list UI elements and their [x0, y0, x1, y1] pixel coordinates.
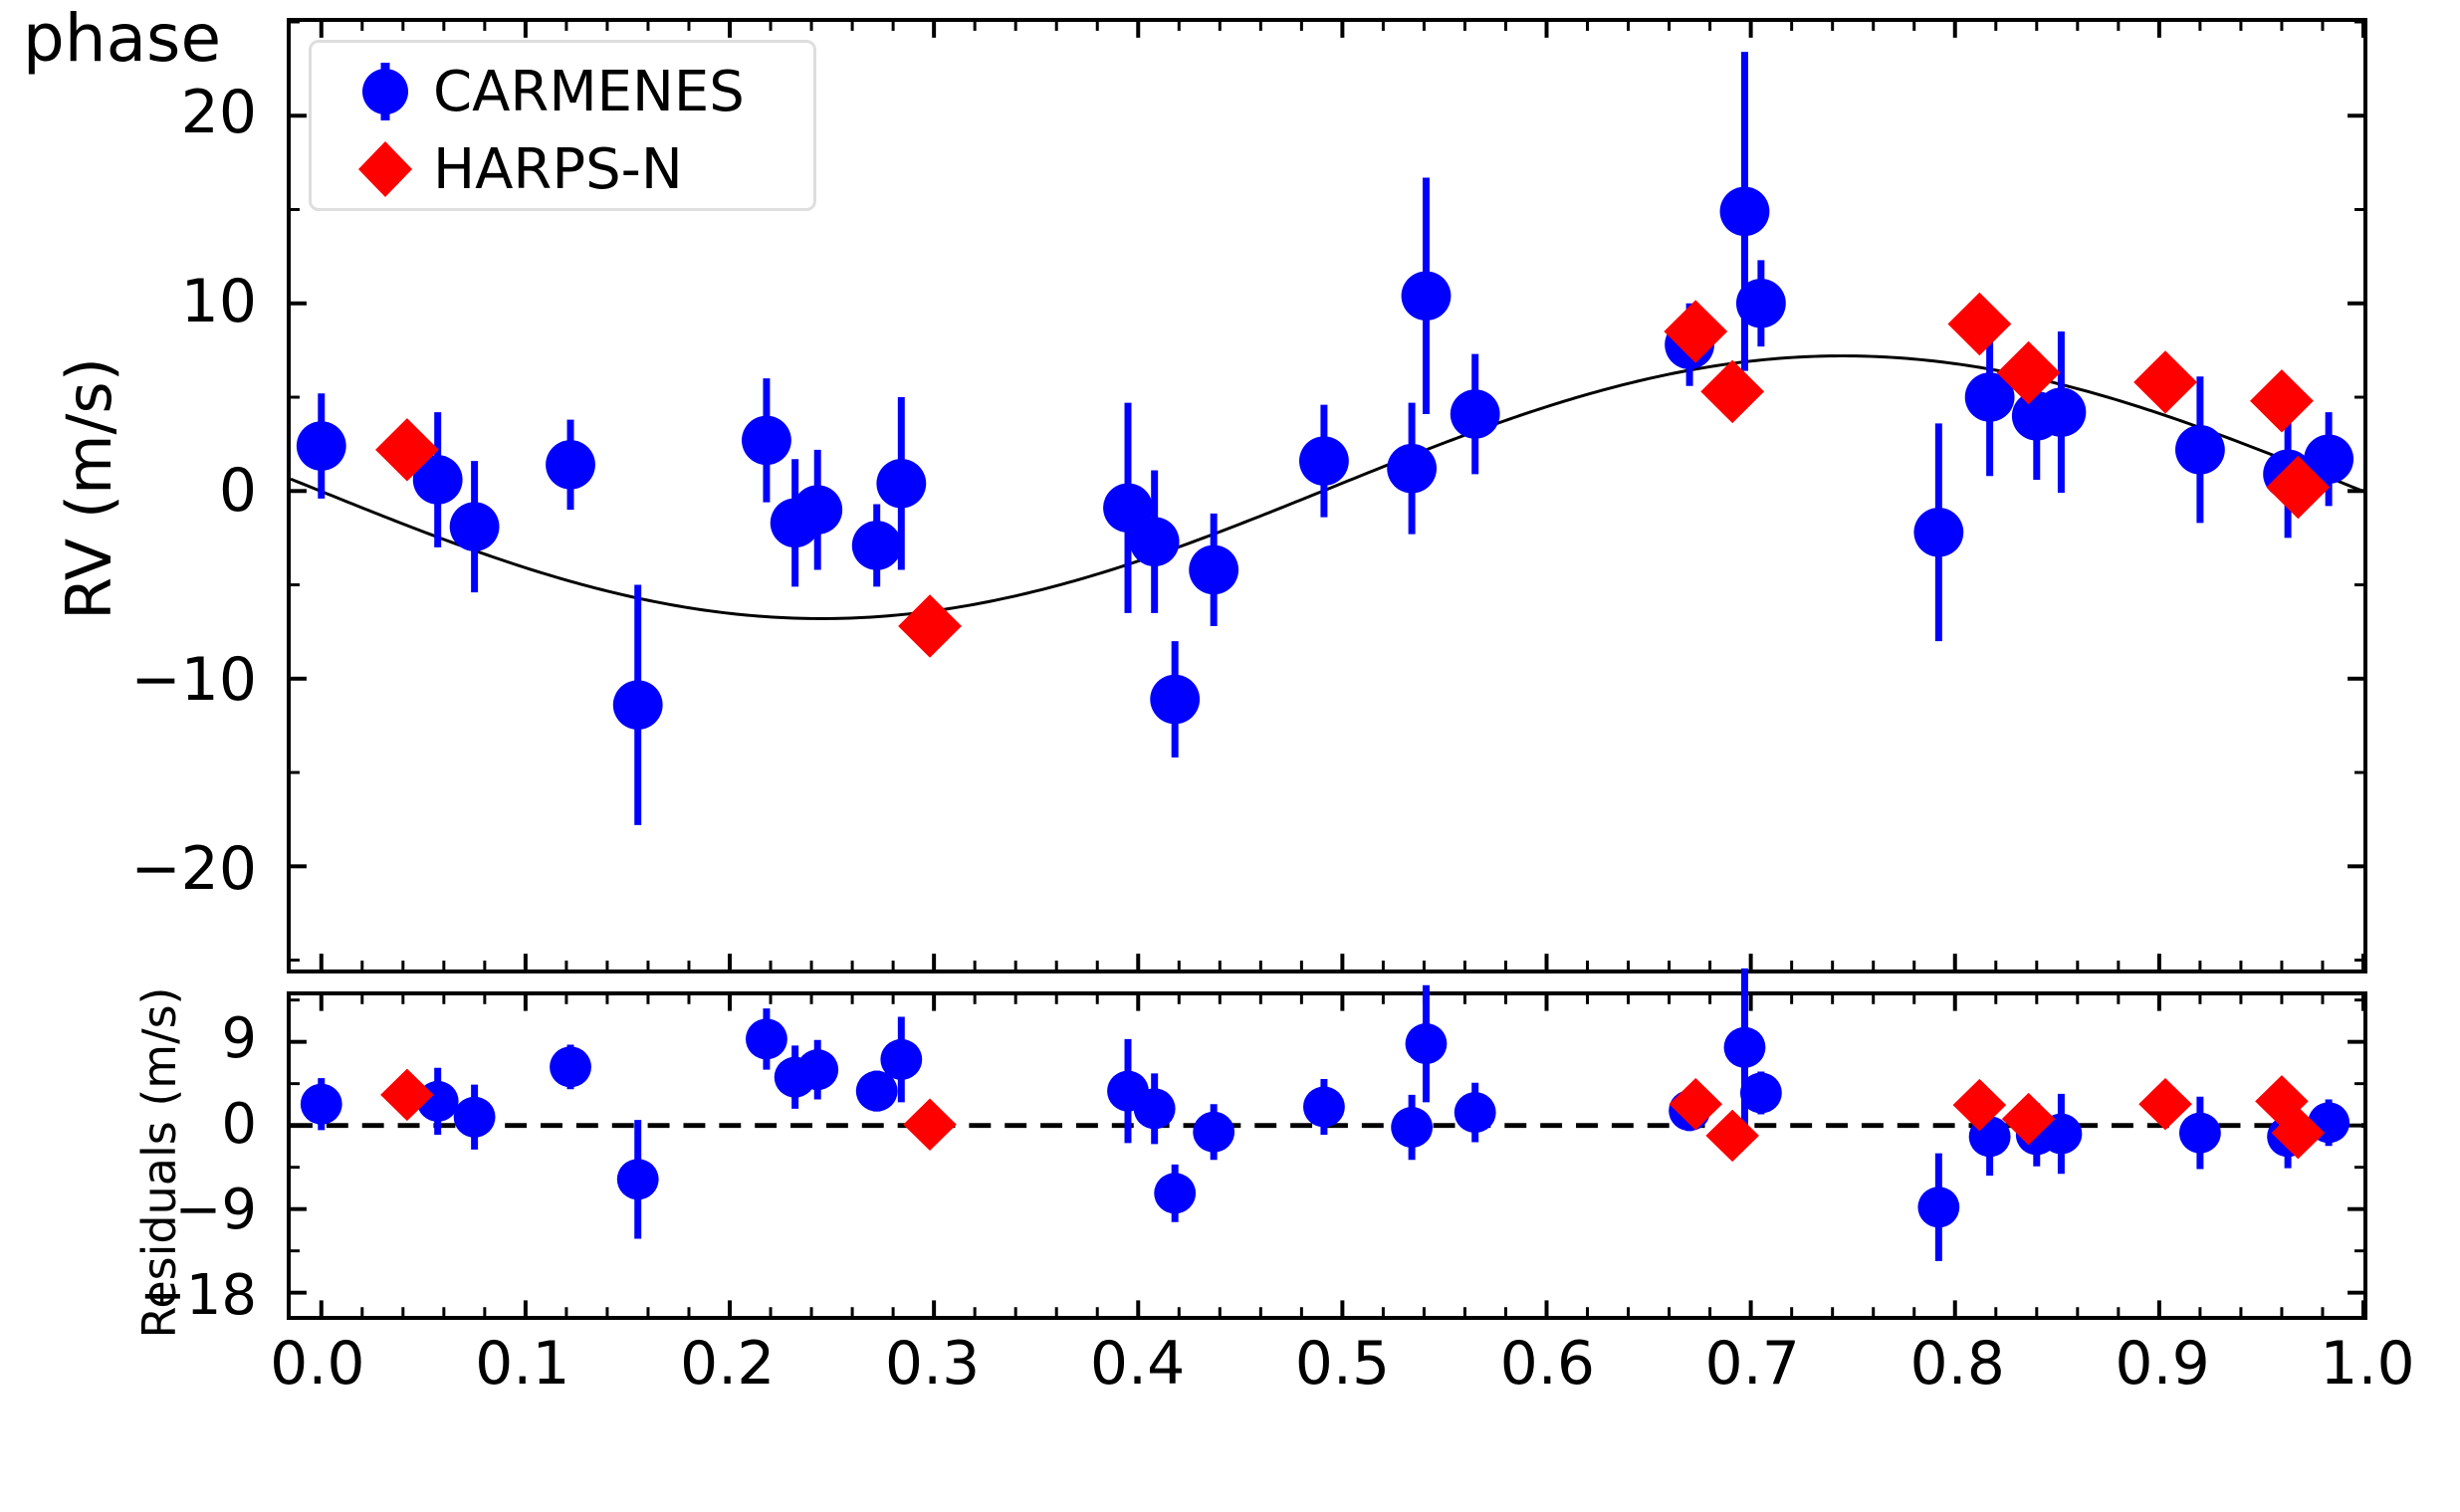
data-point-circle [550, 1046, 591, 1087]
data-point-diamond [1705, 1110, 1759, 1162]
data-point-circle [1150, 675, 1200, 725]
legend[interactable]: CARMENES HARPS-N [309, 40, 816, 211]
data-point-diamond [2250, 369, 2314, 432]
data-point-circle [546, 440, 595, 490]
residuals-axes [287, 991, 2367, 1320]
data-point-circle [1193, 1112, 1234, 1153]
xtick-2: 0.2 [680, 1334, 775, 1394]
data-point-circle [1130, 517, 1180, 566]
data-point-circle [796, 1049, 838, 1090]
data-point-circle [1189, 545, 1238, 595]
residuals-axis-title: Residuals (m/s) [136, 924, 182, 1402]
xtick-7: 0.7 [1705, 1334, 1800, 1394]
data-point-circle [1454, 1092, 1496, 1133]
data-point-circle [301, 1084, 342, 1125]
data-point-circle [617, 1159, 659, 1199]
data-point-circle [613, 680, 663, 730]
data-point-circle [1917, 1187, 1959, 1227]
legend-label-harpsn: HARPS-N [433, 137, 683, 202]
xtick-1: 0.1 [475, 1334, 569, 1394]
legend-entry-harpsn[interactable]: HARPS-N [337, 134, 683, 204]
data-point-circle [1391, 1107, 1433, 1148]
xtick-4: 0.4 [1090, 1334, 1185, 1394]
data-point-diamond [1947, 293, 2011, 355]
data-point-circle [1387, 444, 1437, 494]
data-point-circle [1402, 271, 1452, 321]
diamond-marker-icon [337, 134, 433, 204]
data-point-circle [742, 416, 791, 466]
xtick-8: 0.8 [1909, 1334, 2004, 1394]
xtick-6: 0.6 [1500, 1334, 1595, 1394]
data-point-circle [1740, 1073, 1782, 1114]
legend-label-carmenes: CARMENES [433, 60, 745, 124]
data-point-circle [1720, 187, 1770, 237]
circle-marker-icon [337, 57, 433, 126]
data-point-circle [2179, 1113, 2221, 1154]
data-point-diamond [1700, 360, 1764, 423]
data-point-diamond [2133, 350, 2197, 413]
data-point-circle [454, 1097, 496, 1138]
figure-canvas: 20100−10−20 RV (m/s) 90−9−18 Residuals (… [0, 0, 2460, 1512]
data-point-circle [297, 421, 346, 471]
rv-axis-title: RV (m/s) [59, 280, 120, 698]
data-point-circle [1913, 508, 1963, 557]
xtick-9: 0.9 [2115, 1334, 2209, 1394]
rv-ytick-4: −20 [40, 839, 257, 899]
legend-entry-carmenes[interactable]: CARMENES [337, 57, 745, 126]
xtick-10: 1.0 [2320, 1334, 2414, 1394]
data-point-circle [1724, 1027, 1766, 1068]
residuals-plot-area [291, 995, 2363, 1316]
data-point-circle [1154, 1173, 1196, 1213]
xtick-5: 0.5 [1295, 1334, 1390, 1394]
data-point-circle [880, 1039, 922, 1080]
data-point-circle [2037, 387, 2087, 437]
data-point-circle [1406, 1023, 1448, 1064]
data-point-circle [450, 502, 500, 551]
data-point-circle [876, 459, 926, 509]
data-point-circle [1134, 1088, 1176, 1129]
data-point-circle [2175, 425, 2225, 475]
rv-ytick-0: 20 [40, 83, 257, 142]
data-point-circle [1303, 1087, 1345, 1128]
data-point-diamond [898, 594, 962, 657]
data-point-circle [746, 1018, 787, 1059]
data-point-circle [1736, 279, 1786, 328]
data-point-circle [852, 521, 902, 570]
xtick-3: 0.3 [885, 1334, 980, 1394]
data-point-circle [792, 485, 842, 535]
data-point-circle [1299, 436, 1349, 486]
xtick-0: 0.0 [270, 1334, 364, 1394]
data-point-circle [1451, 389, 1500, 439]
data-point-diamond [903, 1099, 957, 1151]
